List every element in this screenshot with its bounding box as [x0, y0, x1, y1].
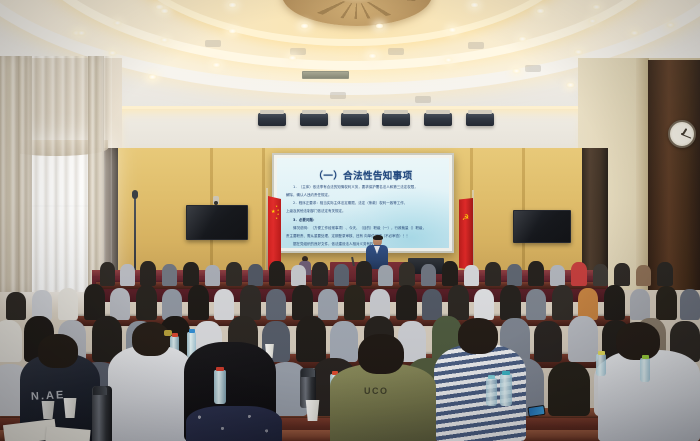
attendee — [6, 292, 26, 320]
attendee — [593, 264, 608, 286]
hammer-sickle-icon: ☭ — [462, 214, 470, 223]
downlight — [630, 30, 639, 36]
slide-line: 3．必要问题： — [286, 217, 442, 223]
slide-line: 上级及其他法制部门依法定有关规定。 — [286, 208, 442, 214]
attendee — [136, 285, 157, 320]
slide-line: 情况说明：（方便工作经常事项）、今天、（目的）职级（一），行政裁量（）职级， — [286, 225, 442, 231]
ceiling-vent — [290, 48, 306, 55]
attendee — [500, 285, 521, 320]
hair-clip-icon — [164, 330, 172, 336]
shirt-text: UCO — [364, 386, 389, 396]
attendee-white-shirt — [108, 346, 194, 441]
attendee — [421, 264, 436, 286]
ceiling-speaker-icon — [382, 113, 410, 126]
attendee — [84, 284, 105, 320]
attendee-striped-shirt — [434, 344, 526, 441]
downlight — [588, 18, 597, 24]
slide-line: 1．（主体）依法享有合法的知情权利义务，要求保护署名法人和第三法定权限， — [286, 184, 442, 190]
projection-screen: （一）合法性告知事项 1．（主体）依法享有合法的知情权利义务，要求保护署名法人和… — [272, 153, 454, 253]
attendee — [296, 316, 326, 362]
ceiling-vent — [388, 48, 404, 55]
attendee — [266, 289, 286, 320]
downlight — [566, 82, 575, 88]
wood-wall-panel — [648, 60, 700, 290]
ceiling-speaker-icon — [341, 113, 369, 126]
water-bottle — [640, 358, 650, 382]
attendee — [214, 289, 234, 320]
attendee — [356, 261, 372, 286]
slide-title: （一）合法性告知事项 — [277, 168, 449, 182]
attendee — [269, 261, 285, 286]
ceiling-speaker-icon — [424, 113, 452, 126]
attendee — [485, 262, 501, 286]
downlight — [536, 8, 545, 14]
attendee-head — [38, 334, 78, 368]
jacket-text: N.AE — [31, 389, 66, 403]
downlight — [228, 28, 237, 34]
downlight — [470, 2, 479, 8]
attendee — [548, 362, 590, 416]
ceiling-vent — [330, 92, 346, 99]
attendee — [474, 289, 494, 320]
downlight — [300, 23, 309, 29]
downlight — [448, 27, 457, 33]
attendee — [205, 265, 220, 286]
attendee — [680, 289, 700, 320]
ceiling-vent — [205, 40, 221, 47]
downlight — [444, 57, 453, 63]
attendee — [120, 264, 135, 286]
attendee — [526, 289, 546, 320]
attendee-head — [616, 322, 660, 360]
attendee — [550, 265, 565, 286]
water-bottle — [596, 354, 606, 376]
downlight — [228, 2, 237, 8]
attendee — [162, 264, 177, 286]
ceiling-speaker-icon — [258, 113, 286, 126]
audience-area: N.AE UCO — [0, 258, 700, 441]
curtain-folds — [0, 56, 112, 292]
ceiling-speaker-icon — [300, 113, 328, 126]
wall-monitor-left — [186, 205, 248, 240]
slide-line: 解除，确认人违约责任规定。 — [286, 192, 442, 198]
downlight — [148, 74, 157, 80]
attendee — [291, 265, 306, 286]
downlight — [368, 53, 377, 59]
ceiling-vent — [525, 65, 541, 72]
attendee — [448, 285, 469, 320]
water-bottle — [486, 378, 497, 406]
attendee — [442, 261, 458, 286]
ceiling-vent — [415, 96, 431, 103]
attendee — [58, 288, 78, 320]
wall-clock-icon — [668, 120, 696, 148]
attendee — [312, 262, 328, 286]
downlight — [160, 37, 169, 43]
wall-monitor-right — [513, 210, 571, 243]
ceiling-camera-icon — [213, 196, 219, 204]
slide-line: 责主要职责、需从重要处理、定期登录审核、还有 向单位了解（不必审查）！！ — [286, 233, 442, 239]
attendee — [571, 262, 587, 286]
downlight — [113, 20, 122, 26]
attendee — [422, 289, 442, 320]
attendee — [110, 288, 130, 320]
conference-hall-photo: （一）合法性告知事项 1．（主体）依法享有合法的知情权利义务，要求保护署名法人和… — [0, 0, 700, 441]
downlight — [574, 49, 583, 55]
water-bottle — [214, 370, 226, 404]
attendee — [657, 262, 673, 286]
attendee-head — [132, 322, 170, 356]
downlight — [518, 36, 527, 42]
slide-line: 据在党组织的良好文件，依法建设法人相对义务有权知 — [286, 241, 442, 247]
downlight — [375, 23, 384, 29]
attendee — [614, 263, 630, 286]
attendee — [0, 320, 22, 362]
downlight — [160, 8, 169, 14]
thermos-flask — [92, 386, 112, 441]
attendee — [248, 264, 263, 286]
slide-line: 2．程序正要求：相当实际主体法定期限，法定（条款）权利一致等工作、 — [286, 200, 442, 206]
downlight — [212, 62, 221, 68]
slide-body: 1．（主体）依法享有合法的知情权利义务，要求保护署名法人和第三法定权限， 解除，… — [286, 184, 442, 248]
downlight — [77, 30, 86, 36]
attendee — [344, 285, 365, 320]
attendee — [100, 262, 115, 286]
attendee-head — [358, 334, 404, 374]
attendee — [334, 264, 349, 286]
attendee — [396, 285, 417, 320]
attendee — [464, 265, 479, 286]
attendee-head — [458, 318, 498, 354]
attendee — [552, 285, 573, 320]
attendee — [292, 285, 313, 320]
attendee — [568, 316, 598, 362]
attendee — [330, 321, 358, 362]
attendee — [534, 321, 562, 362]
attendee-olive-shirt: UCO — [330, 364, 436, 441]
water-bottle — [500, 374, 512, 406]
polka-dress — [186, 406, 282, 441]
attendee — [188, 285, 209, 320]
attendee — [636, 265, 651, 286]
downlight — [512, 68, 521, 74]
attendee — [630, 289, 650, 320]
attendee — [528, 261, 544, 286]
attendee — [604, 285, 625, 320]
attendee — [183, 262, 199, 286]
attendee — [399, 262, 415, 286]
downlight — [288, 55, 297, 61]
attendee — [318, 289, 338, 320]
slide-content: （一）合法性告知事项 1．（主体）依法享有合法的知情权利义务，要求保护署名法人和… — [277, 158, 449, 248]
attendee — [378, 265, 393, 286]
ceiling-vent — [468, 42, 484, 49]
ceiling-grille-icon — [302, 71, 349, 79]
attendee — [240, 285, 261, 320]
attendee — [656, 286, 677, 320]
attendee — [140, 261, 156, 286]
attendee — [226, 262, 242, 286]
attendee — [507, 264, 522, 286]
ceiling-speaker-icon — [466, 113, 494, 126]
